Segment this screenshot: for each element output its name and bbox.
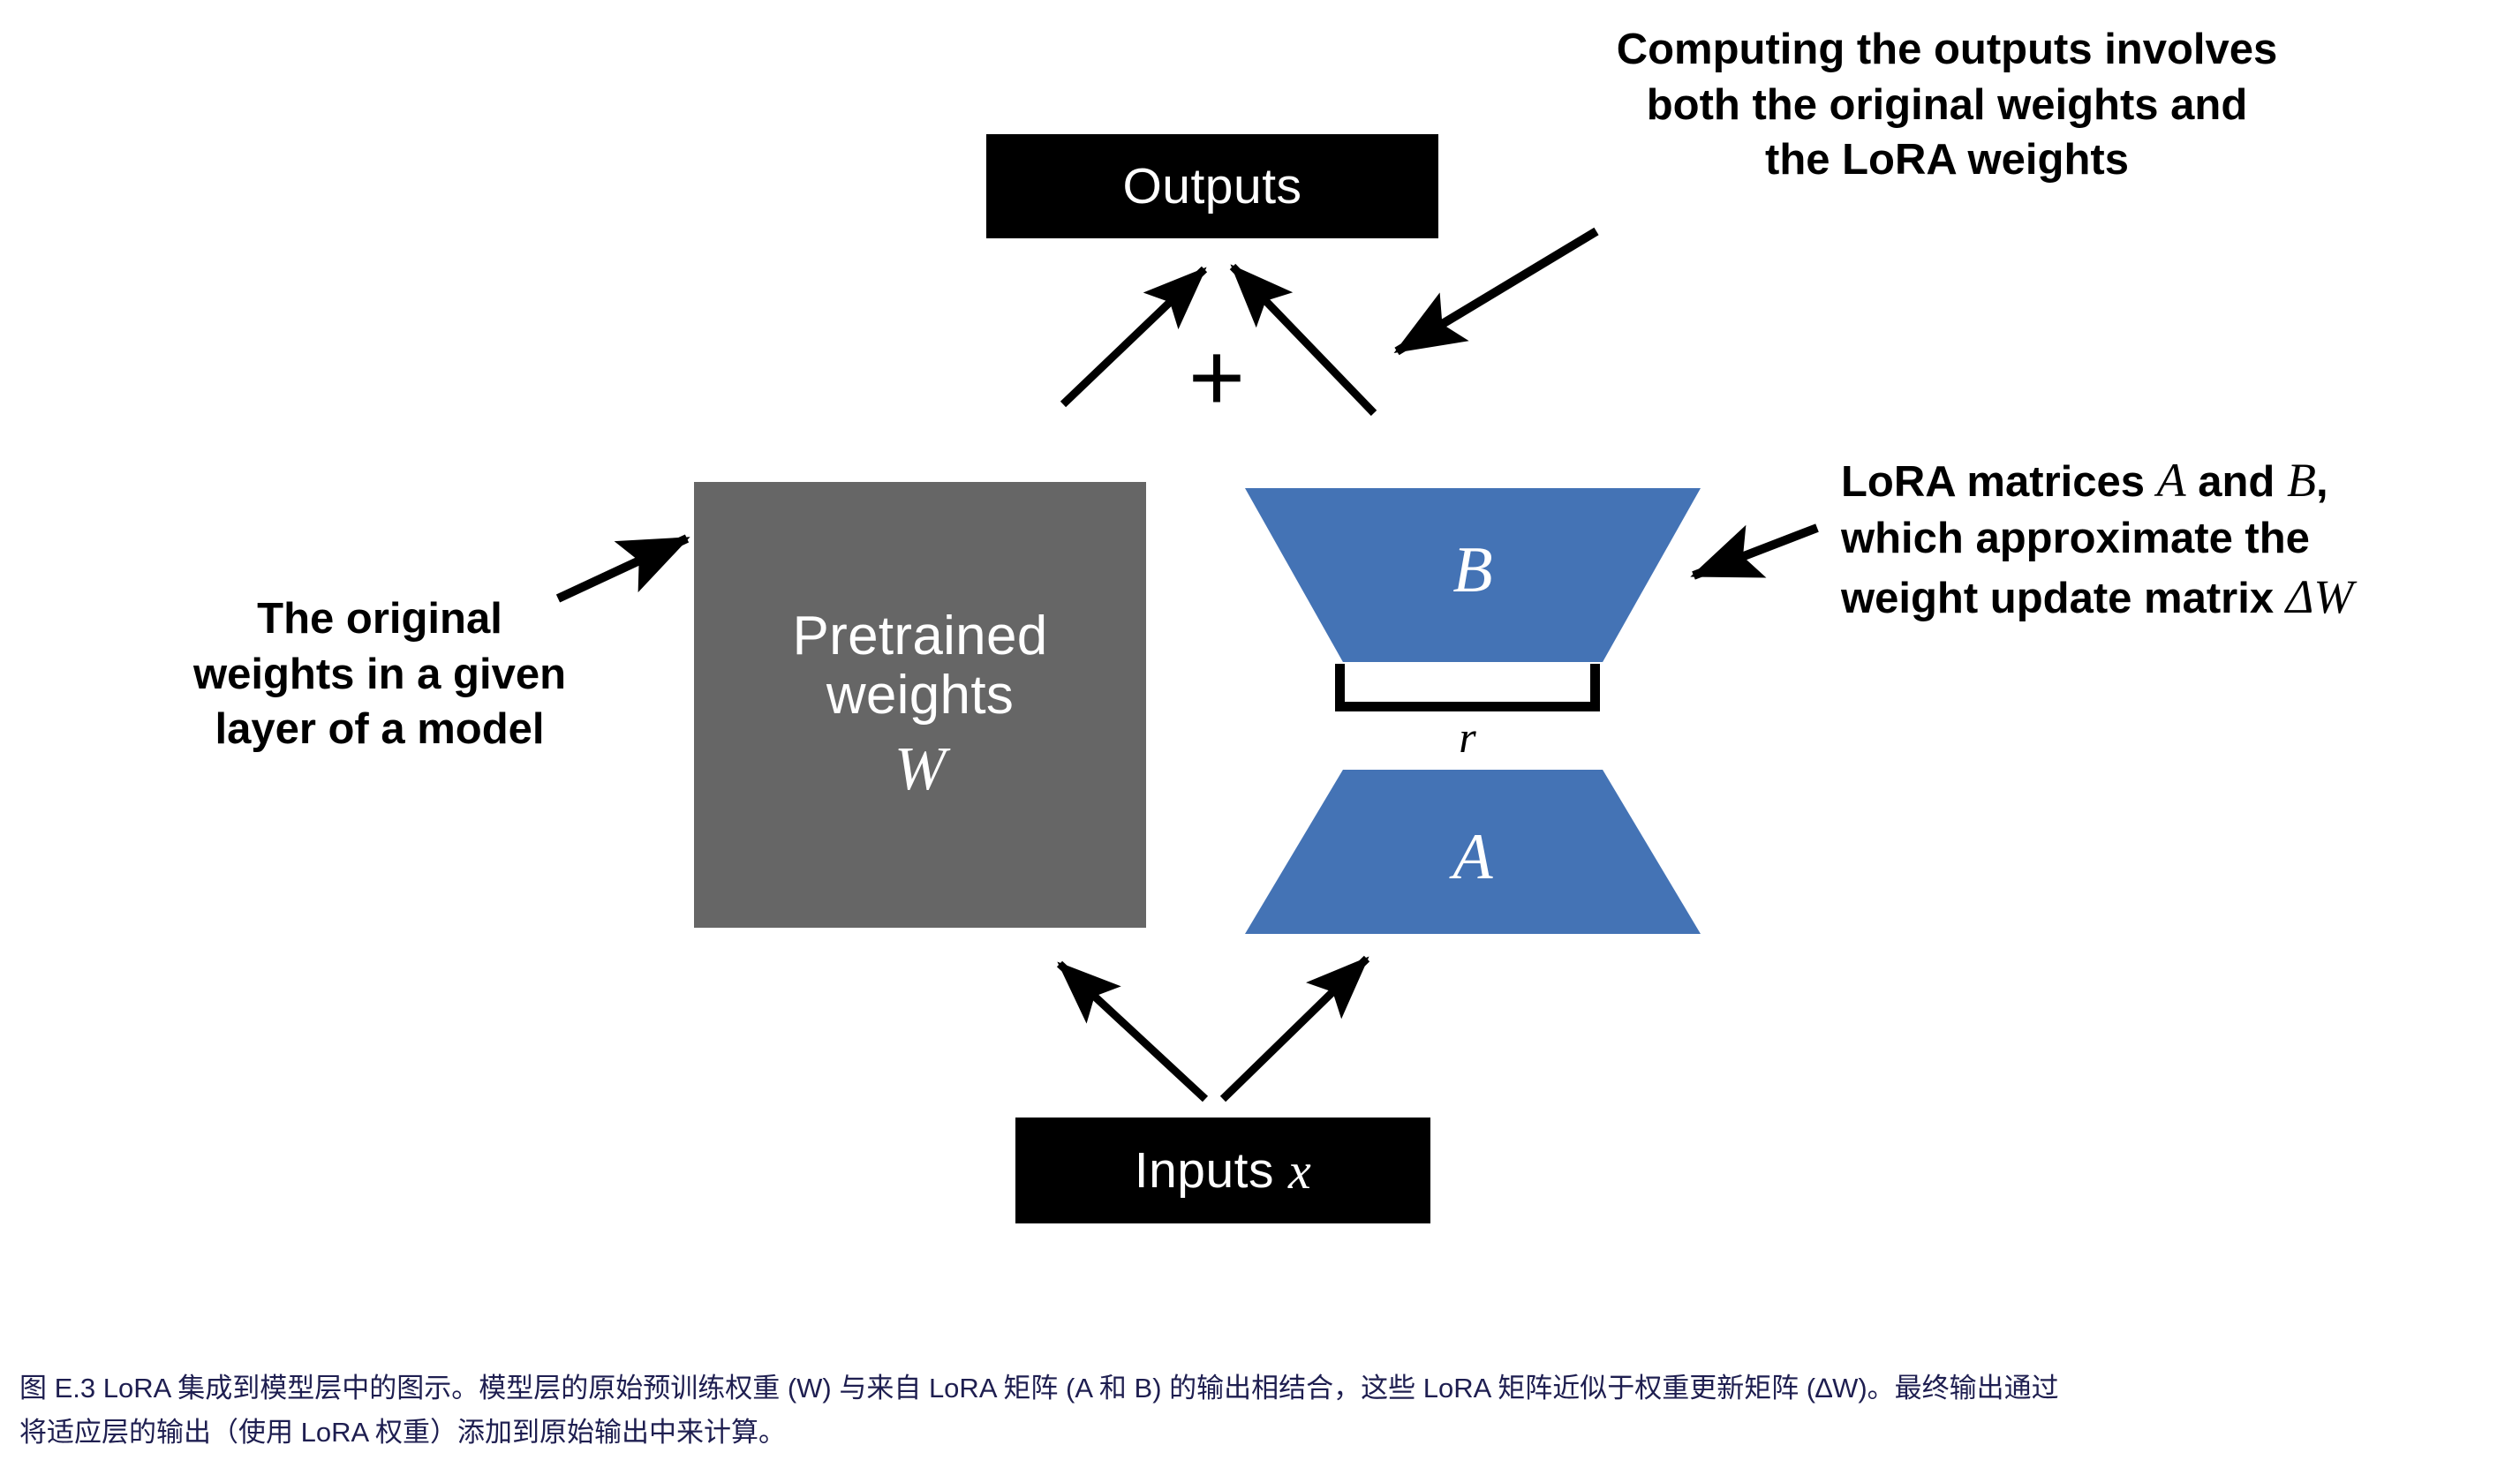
- node-outputs-label: Outputs: [1122, 157, 1301, 215]
- node-inputs: Inputs x: [1015, 1118, 1430, 1223]
- annotation-lora-text-update: weight update matrix: [1841, 575, 2286, 622]
- arrow-annotation-top: [1397, 231, 1596, 351]
- annotation-lora-line-3: weight update matrix ΔW: [1841, 567, 2512, 628]
- arrow-inputs-to-lora: [1223, 959, 1367, 1099]
- arrow-annotation-left: [558, 538, 687, 598]
- annotation-pretrained-line-2: weights in a given: [132, 647, 627, 703]
- rank-label: r: [1335, 711, 1600, 763]
- annotation-lora-var-b: B: [2287, 454, 2316, 507]
- node-pretrained-weights: Pretrained weights W: [694, 482, 1146, 928]
- annotation-outputs: Computing the outputs involves both the …: [1501, 22, 2393, 188]
- figure-caption-line-1: 图 E.3 LoRA 集成到模型层中的图示。模型层的原始预训练权重 (W) 与来…: [19, 1366, 2501, 1411]
- node-inputs-variable: x: [1288, 1141, 1311, 1200]
- pretrained-line-2: weights: [826, 666, 1014, 726]
- pretrained-weight-symbol: W: [894, 736, 946, 803]
- pretrained-line-1: Pretrained: [792, 607, 1047, 666]
- combine-plus-symbol: +: [1177, 334, 1256, 422]
- lora-architecture-diagram: Outputs + Pretrained weights W B r A Inp…: [0, 0, 2520, 1460]
- figure-caption-line-2: 将适应层的输出（使用 LoRA 权重）添加到原始输出中来计算。: [19, 1411, 2501, 1455]
- annotation-outputs-line-3: the LoRA weights: [1501, 132, 2393, 188]
- annotation-lora-text-and: and: [2186, 458, 2287, 506]
- node-inputs-label: Inputs: [1135, 1141, 1274, 1200]
- lora-matrix-b-label: B: [1452, 533, 1492, 608]
- annotation-pretrained-line-3: layer of a model: [132, 702, 627, 757]
- lora-matrix-a-label: A: [1452, 820, 1492, 895]
- annotation-pretrained: The original weights in a given layer of…: [132, 591, 627, 757]
- figure-caption: 图 E.3 LoRA 集成到模型层中的图示。模型层的原始预训练权重 (W) 与来…: [19, 1366, 2501, 1455]
- node-outputs: Outputs: [986, 134, 1438, 238]
- annotation-lora-var-a: A: [2157, 454, 2186, 507]
- arrow-annotation-right: [1694, 528, 1817, 576]
- annotation-lora-comma: ,: [2316, 458, 2328, 506]
- annotation-outputs-line-2: both the original weights and: [1501, 78, 2393, 133]
- annotation-pretrained-line-1: The original: [132, 591, 627, 647]
- annotation-lora-line-2: which approximate the: [1841, 511, 2512, 567]
- arrow-inputs-to-pretrained: [1060, 964, 1205, 1099]
- annotation-outputs-line-1: Computing the outputs involves: [1501, 22, 2393, 78]
- annotation-lora-text-a: LoRA matrices: [1841, 458, 2157, 506]
- annotation-lora-var-delta-w: ΔW: [2286, 570, 2354, 623]
- annotation-lora-matrices: LoRA matrices A and B, which approximate…: [1841, 450, 2512, 628]
- annotation-lora-line-1: LoRA matrices A and B,: [1841, 450, 2512, 511]
- rank-bracket: [1335, 664, 1600, 711]
